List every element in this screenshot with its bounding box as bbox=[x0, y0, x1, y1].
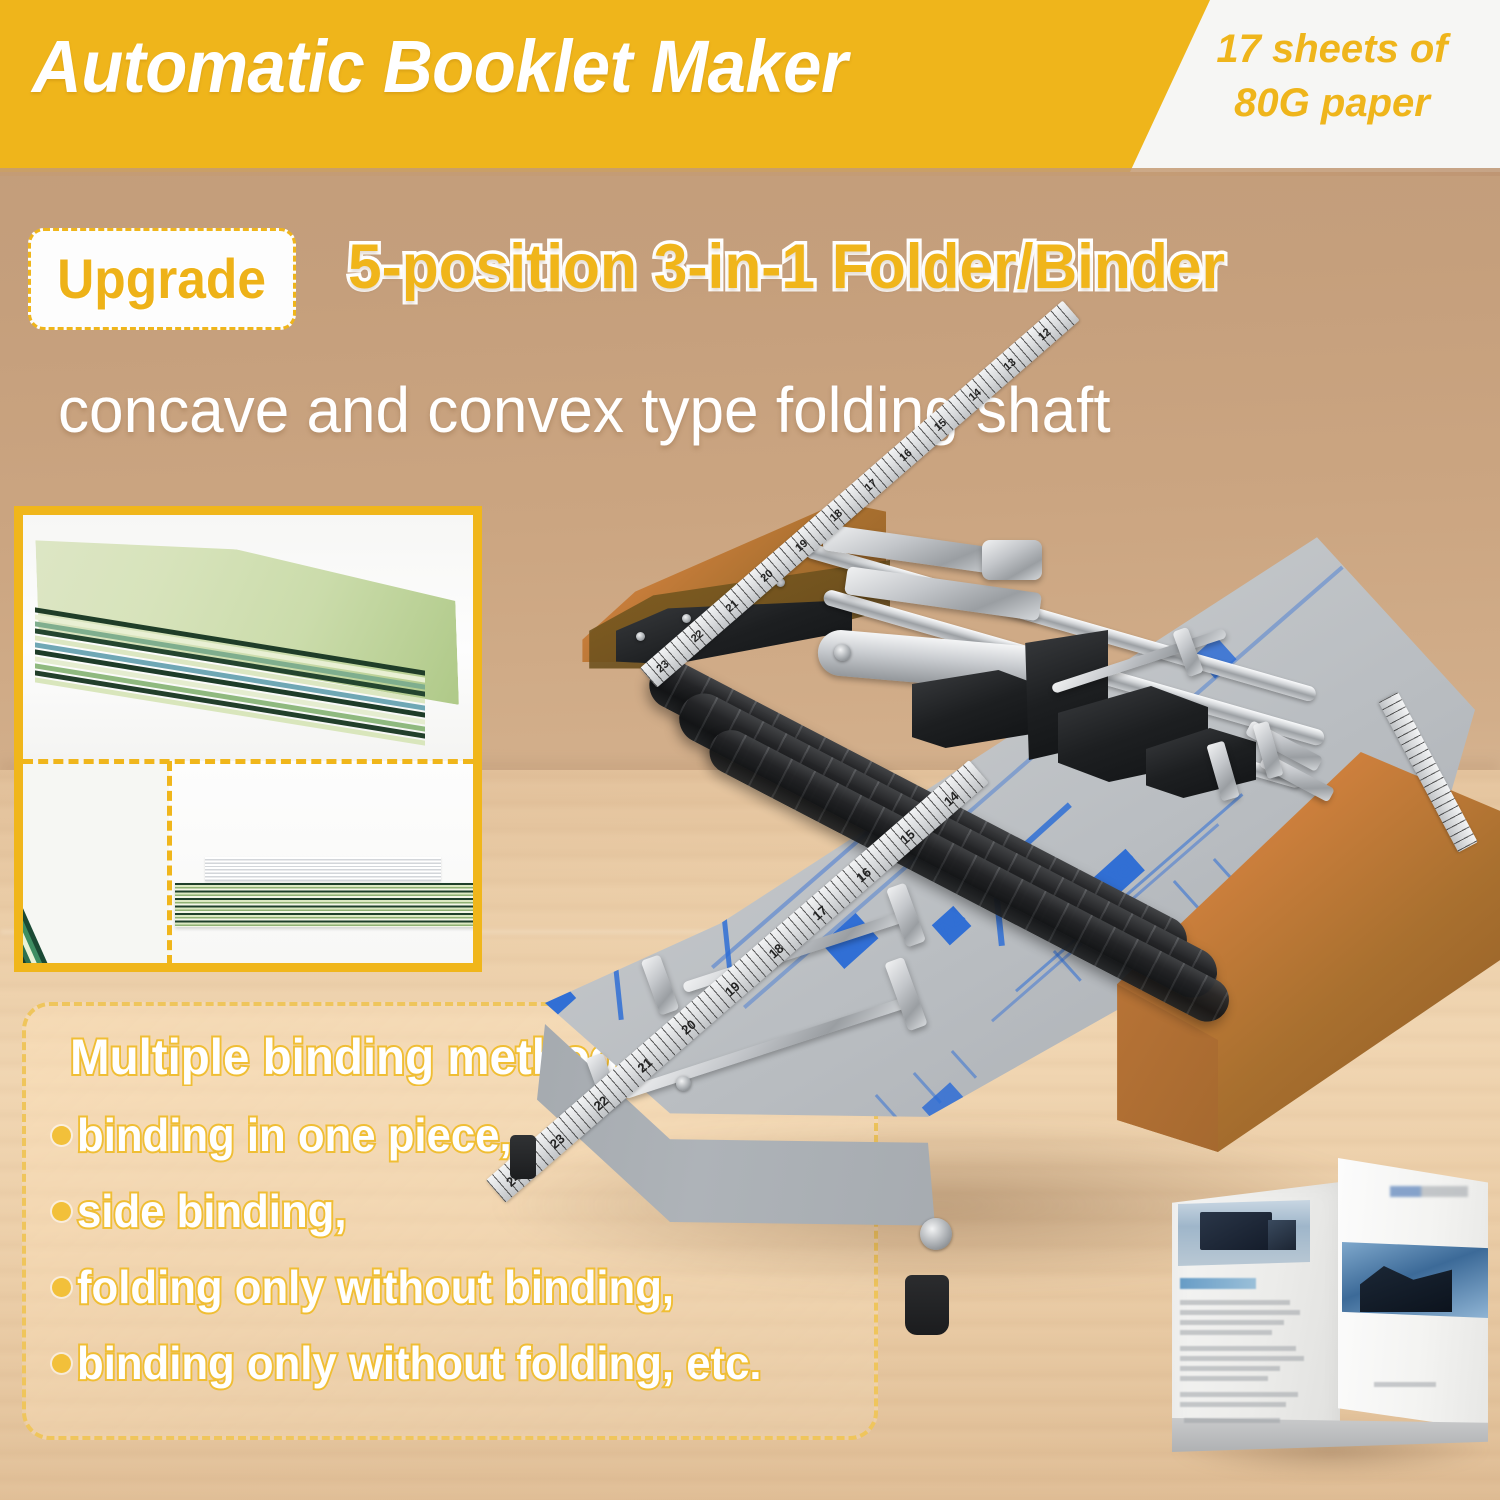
capacity-line-1: 17 sheets of bbox=[1172, 22, 1492, 76]
headline-main: 5-position 3-in-1 Folder/Binder bbox=[348, 236, 1433, 299]
feature-collage bbox=[14, 506, 482, 972]
page-edge-stripe bbox=[23, 761, 83, 963]
guide-screw-icon bbox=[676, 1076, 691, 1091]
list-item: binding only without folding, etc. bbox=[52, 1340, 874, 1386]
header-underline bbox=[0, 168, 1500, 176]
truck-trailer bbox=[1200, 1212, 1272, 1250]
capacity-line-2: 80G paper bbox=[1172, 76, 1492, 130]
package-text-line bbox=[1180, 1310, 1300, 1315]
upgrade-badge: Upgrade bbox=[28, 228, 296, 330]
package-text-line bbox=[1180, 1320, 1284, 1325]
collage-divider-vertical bbox=[167, 761, 172, 963]
package-text-line bbox=[1180, 1330, 1272, 1335]
truck-cab bbox=[1268, 1220, 1296, 1250]
package-text-line bbox=[1180, 1376, 1268, 1381]
carriage-block bbox=[912, 670, 1032, 748]
package-text-line bbox=[1180, 1402, 1286, 1407]
collage-panel-folded-sheets bbox=[23, 515, 473, 761]
cargo-ship-photo bbox=[1342, 1242, 1488, 1318]
upgrade-label: Upgrade bbox=[58, 251, 267, 307]
page-title: Automatic Booklet Maker bbox=[32, 30, 1055, 104]
package-text-line bbox=[1180, 1356, 1304, 1361]
package-logo bbox=[1390, 1186, 1468, 1197]
capacity-badge: 17 sheets of 80G paper bbox=[1172, 22, 1492, 130]
screw-icon bbox=[636, 632, 645, 641]
header-banner: Automatic Booklet Maker 17 sheets of 80G… bbox=[0, 0, 1500, 172]
white-sheet-stack bbox=[205, 857, 441, 881]
bullet-dot-icon bbox=[52, 1354, 71, 1373]
headline-sub: concave and convex type folding shaft bbox=[58, 378, 1435, 442]
collage-inner bbox=[23, 515, 473, 963]
screw-icon bbox=[682, 614, 691, 623]
product-carton-box bbox=[1160, 1150, 1495, 1480]
body-screw-icon bbox=[920, 1218, 952, 1250]
machine-foot bbox=[510, 1135, 536, 1179]
product-marketing-image: Automatic Booklet Maker 17 sheets of 80G… bbox=[0, 0, 1500, 1500]
package-heading-block bbox=[1180, 1278, 1256, 1289]
package-text-line bbox=[1374, 1382, 1436, 1387]
bullet-dot-icon bbox=[52, 1202, 71, 1221]
bullet-dot-icon bbox=[52, 1126, 71, 1145]
package-text-line bbox=[1184, 1418, 1280, 1423]
bullet-dot-icon bbox=[52, 1278, 71, 1297]
collage-panel-page-edges bbox=[23, 761, 169, 963]
handle-joint bbox=[982, 540, 1042, 580]
list-item-label: binding only without folding, etc. bbox=[77, 1340, 762, 1386]
package-text-line bbox=[1180, 1300, 1290, 1305]
package-text-line bbox=[1180, 1366, 1280, 1371]
package-text-line bbox=[1180, 1346, 1296, 1351]
ship-hull bbox=[1360, 1266, 1452, 1312]
collage-divider-horizontal bbox=[23, 759, 473, 764]
list-item-label: side binding, bbox=[77, 1188, 346, 1234]
machine-foot bbox=[905, 1275, 949, 1335]
package-text-line bbox=[1180, 1392, 1298, 1397]
handle-pivot-screw-icon bbox=[834, 644, 851, 661]
freight-truck-photo bbox=[1178, 1200, 1310, 1266]
